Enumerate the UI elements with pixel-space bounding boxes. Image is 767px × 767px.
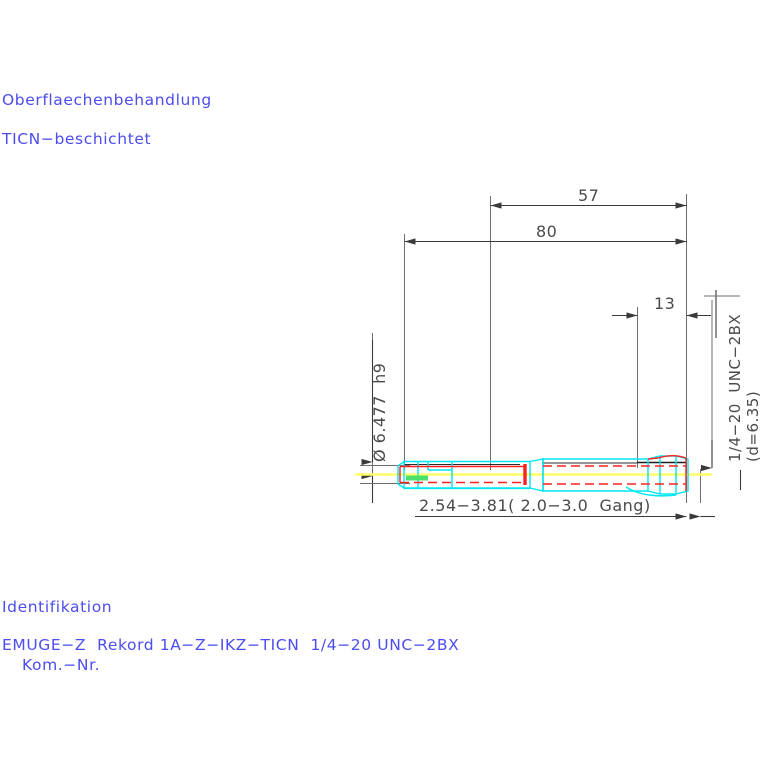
dimension-label-13: 13	[654, 296, 675, 312]
tap-tool-drawing	[355, 456, 712, 496]
dimension-label-chamfer-lead: 2.54−3.81( 2.0−3.0 Gang)	[419, 498, 651, 514]
surface-treatment-heading: Oberflaechenbehandlung	[2, 93, 212, 109]
surface-treatment-value: TICN−beschichtet	[2, 132, 151, 148]
identification-line-1: EMUGE−Z Rekord 1A−Z−IKZ−TICN 1/4−20 UNC−…	[2, 638, 459, 654]
identification-line-2: Kom.−Nr.	[22, 658, 100, 674]
dimension-label-thread-spec-2: (d=6.35)	[746, 391, 761, 462]
dimension-label-57: 57	[578, 188, 599, 204]
dimension-label-shank-diameter: Ø 6.477 h9	[372, 363, 388, 462]
drawing-sheet: Oberflaechenbehandlung TICN−beschichtet …	[0, 0, 767, 767]
identification-heading: Identifikation	[2, 600, 112, 616]
dimension-label-80: 80	[536, 224, 557, 240]
dimension-label-thread-spec-1: 1/4−20 UNC−2BX	[728, 314, 743, 462]
